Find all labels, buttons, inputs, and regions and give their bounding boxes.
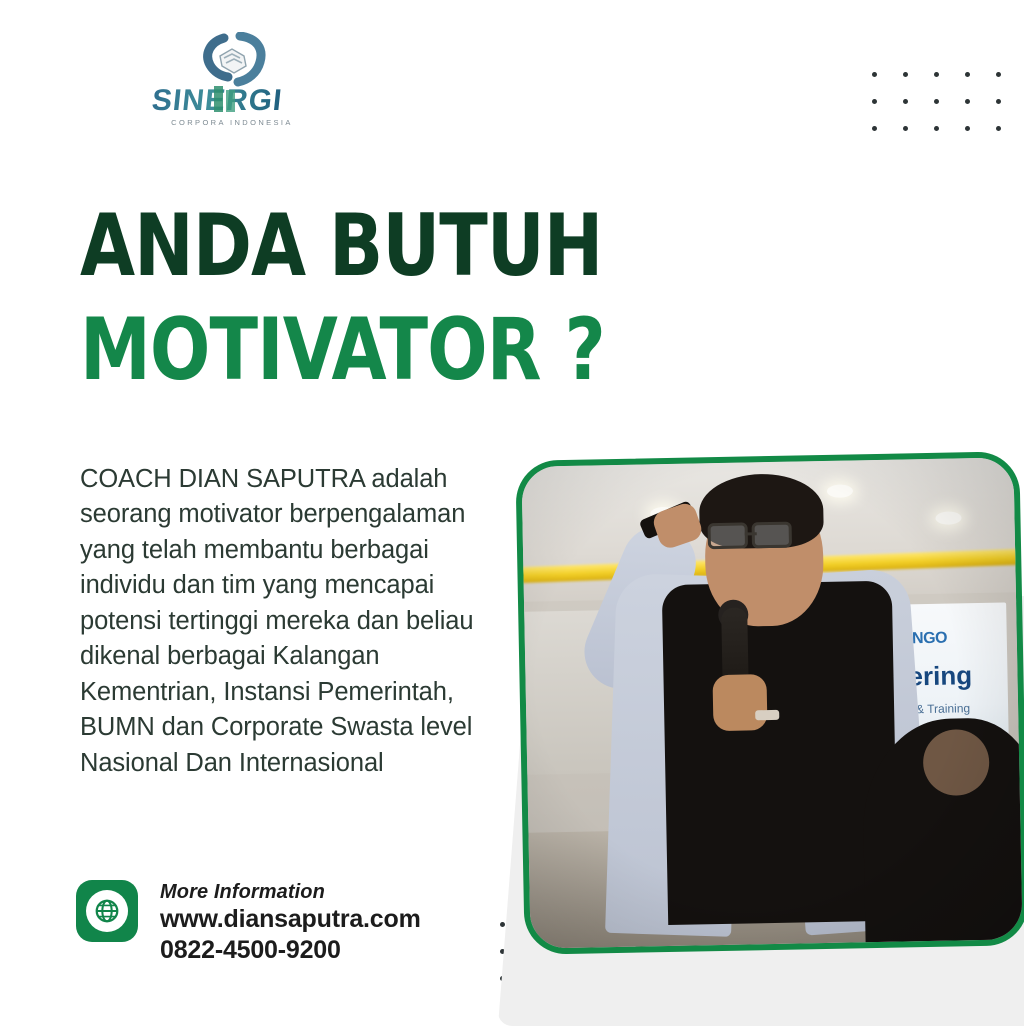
globe-icon-badge[interactable] <box>76 880 138 942</box>
dot <box>903 99 908 104</box>
headline-line-1: ANDA BUTUH <box>80 204 595 288</box>
dot <box>934 72 939 77</box>
contact-lines: More Information www.diansaputra.com 082… <box>160 880 421 966</box>
dot <box>965 72 970 77</box>
logo-wordmark: SINERGI <box>152 82 312 118</box>
dot <box>934 99 939 104</box>
brand-logo: SINERGI CORPORA INDONESIA <box>152 32 312 136</box>
headline-line-2: MOTIVATOR ? <box>80 308 595 392</box>
speaker-photo: CP PITINGO Berdering ting, Sharing & Tra… <box>515 451 1024 955</box>
dot <box>903 72 908 77</box>
dot <box>996 72 1001 77</box>
page-title: ANDA BUTUH MOTIVATOR ? <box>80 204 640 393</box>
dot <box>934 126 939 131</box>
description-paragraph: COACH DIAN SAPUTRA adalah seorang motiva… <box>80 462 500 781</box>
decorative-dot-grid-top <box>872 72 1001 131</box>
dot <box>872 72 877 77</box>
logo-tagline: CORPORA INDONESIA <box>152 118 312 127</box>
phone-number[interactable]: 0822-4500-9200 <box>160 935 421 966</box>
dot <box>903 126 908 131</box>
photo-vignette <box>521 457 1022 948</box>
dot <box>872 126 877 131</box>
dot <box>996 126 1001 131</box>
dot <box>965 126 970 131</box>
more-information-label: More Information <box>160 881 421 904</box>
dot <box>872 99 877 104</box>
website-link[interactable]: www.diansaputra.com <box>160 904 421 935</box>
globe-icon <box>86 890 128 932</box>
dot <box>996 99 1001 104</box>
dot <box>965 99 970 104</box>
dot <box>500 922 505 927</box>
contact-block: More Information www.diansaputra.com 082… <box>76 880 421 966</box>
photo-scene: CP PITINGO Berdering ting, Sharing & Tra… <box>521 457 1022 948</box>
